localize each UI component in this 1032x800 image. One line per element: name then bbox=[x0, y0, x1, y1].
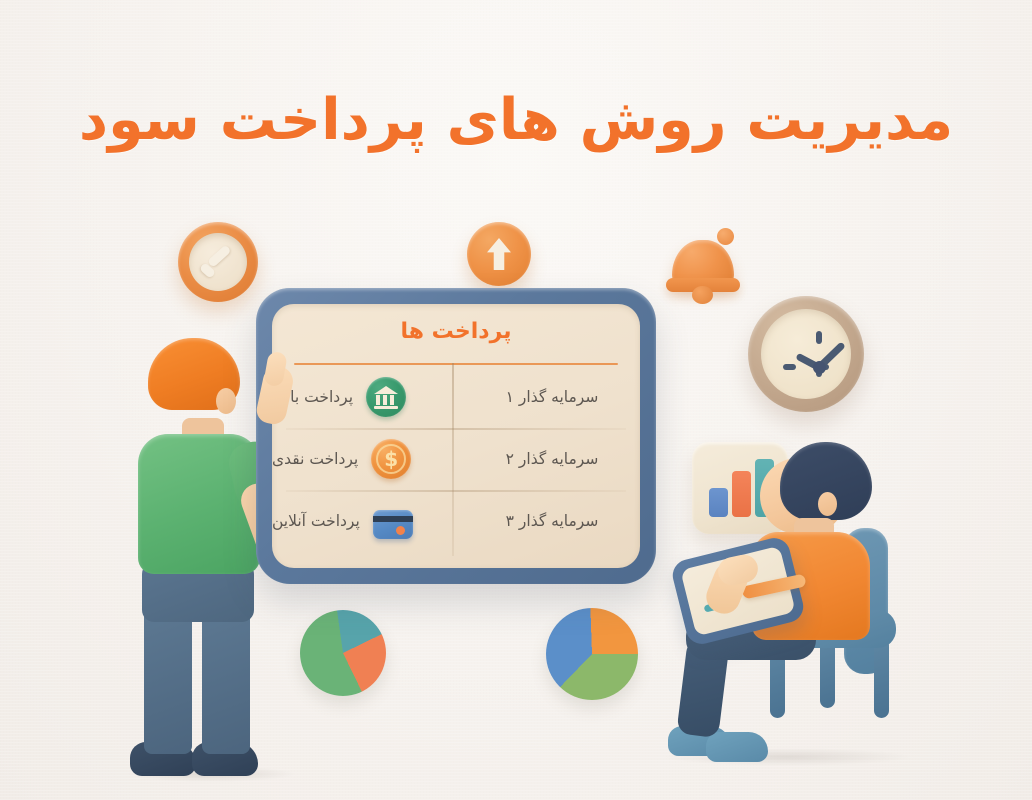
page-title: مدیریت روش های پرداخت سود bbox=[0, 88, 1032, 154]
check-circle-icon bbox=[178, 222, 258, 302]
payments-board[interactable]: پرداخت ها پرداخت بانک سرمایه گذار ۱ پردا… bbox=[256, 288, 656, 584]
leg-left bbox=[144, 602, 192, 754]
table-row[interactable]: پرداخت بانک سرمایه گذار ۱ bbox=[272, 366, 640, 428]
credit-card-icon bbox=[373, 510, 413, 539]
clock-center-pin bbox=[813, 361, 826, 374]
leg-right bbox=[202, 602, 250, 754]
clock-face bbox=[761, 309, 851, 399]
check-mark bbox=[202, 258, 234, 273]
method-cell: پرداخت نقدی $ bbox=[272, 439, 458, 479]
arrow-up-circle-icon bbox=[467, 222, 531, 286]
method-label: پرداخت بانک bbox=[272, 388, 353, 406]
bell-icon bbox=[664, 222, 742, 300]
ear bbox=[818, 492, 837, 516]
arrow-up-glyph bbox=[487, 238, 511, 270]
method-cell: پرداخت بانک bbox=[272, 377, 458, 417]
ear bbox=[216, 388, 236, 414]
pie-chart-right bbox=[546, 608, 638, 700]
investor-label: سرمایه گذار ۳ bbox=[458, 512, 640, 530]
method-label: پرداخت آنلاین bbox=[272, 512, 360, 530]
board-heading-rule bbox=[294, 363, 618, 365]
board-surface: پرداخت ها پرداخت بانک سرمایه گذار ۱ پردا… bbox=[272, 304, 640, 568]
bank-icon bbox=[366, 377, 406, 417]
illustration-canvas: مدیریت روش های پرداخت سود bbox=[0, 0, 1032, 800]
investor-label: سرمایه گذار ۱ bbox=[458, 388, 640, 406]
clock-icon bbox=[748, 296, 864, 412]
coin-dollar-icon: $ bbox=[371, 439, 411, 479]
table-row[interactable]: پرداخت آنلاین سرمایه گذار ۳ bbox=[272, 490, 640, 552]
board-heading: پرداخت ها bbox=[272, 319, 640, 344]
method-cell: پرداخت آنلاین bbox=[272, 504, 458, 539]
payments-table: پرداخت بانک سرمایه گذار ۱ پرداخت نقدی $ bbox=[272, 366, 640, 568]
chair-leg bbox=[874, 638, 889, 718]
chair-leg bbox=[820, 638, 835, 708]
bell-clapper bbox=[692, 286, 713, 304]
investor-label: سرمایه گذار ۲ bbox=[458, 450, 640, 468]
table-row[interactable]: پرداخت نقدی $ سرمایه گذار ۲ bbox=[272, 428, 640, 490]
pie-chart-left bbox=[300, 610, 386, 696]
shoe-right bbox=[706, 732, 768, 762]
screen-line bbox=[704, 598, 739, 613]
method-label: پرداخت نقدی bbox=[272, 450, 358, 468]
bell-knob bbox=[717, 228, 734, 245]
